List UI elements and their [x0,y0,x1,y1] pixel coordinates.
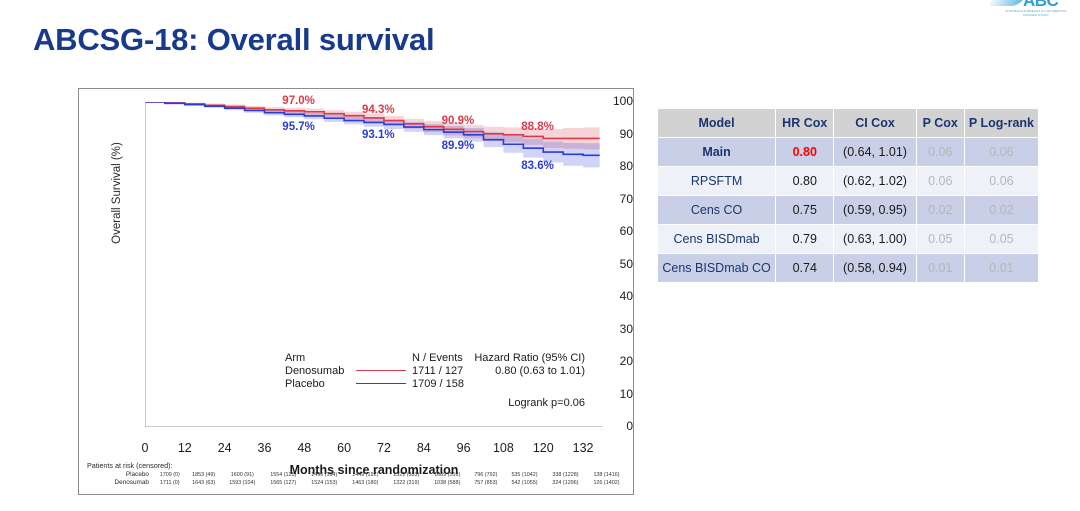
risk-cell: 1089 (516) [427,471,468,479]
curve-annotation: 83.6% [521,160,554,172]
survival-chart-panel: Overall Survival (%) 0102030405060708090… [78,88,634,495]
cell-hr-cox: 0.74 [776,254,833,282]
risk-cell: 1643 (63) [186,479,222,487]
risk-cell: 1038 (588) [427,479,468,487]
legend-arm-label: Denosumab [285,365,355,378]
risk-cell: 126 (1402) [586,479,627,487]
logo-mark-text: ABC [1023,0,1058,9]
table-row: Cens BISDmab0.79(0.63, 1.00)0.050.05 [658,225,1038,253]
legend-n-events: 1709 / 158 [408,378,474,391]
risk-cell: 1524 (153) [304,479,345,487]
cell-model: Cens BISDmab [658,225,775,253]
legend-logrank: Logrank p=0.06 [285,397,585,409]
risk-cell: 1321 (303) [386,471,427,479]
risk-cell: 324 (1296) [545,479,586,487]
risk-cell: 1463 (180) [345,479,386,487]
x-tick-label: 48 [284,441,324,455]
cell-p-logrank: 0.06 [965,138,1038,166]
risk-table-row: Placebo1709 (0)1853 (49)1600 (91)1554 (1… [87,471,627,479]
table-row: Main0.80(0.64, 1.01)0.060.06 [658,138,1038,166]
table-row: Cens CO0.75(0.59, 0.95)0.020.02 [658,196,1038,224]
cell-hr-cox: 0.80 [776,167,833,195]
x-tick-label: 96 [444,441,484,455]
risk-cell: 338 (1228) [545,471,586,479]
risk-cell: 1711 (0) [154,479,186,487]
page-title: ABCSG-18: Overall survival [33,22,434,58]
cell-hr-cox: 0.75 [776,196,833,224]
legend-row: Placebo1709 / 158 [285,378,585,391]
cell-model: Cens BISDmab CO [658,254,775,282]
risk-cell: 1709 (0) [154,471,186,479]
patients-at-risk-table: Placebo1709 (0)1853 (49)1600 (91)1554 (1… [87,471,627,487]
cell-p-logrank: 0.02 [965,196,1038,224]
risk-cell: 1554 (125) [263,471,304,479]
curve-annotation: 89.9% [442,140,475,152]
risk-cell: 535 (1042) [504,471,545,479]
y-axis-title: Overall Survival (%) [111,113,123,273]
x-tick-label: 108 [483,441,523,455]
abcsg-logo: ABC AUSTRALIAN BREAST & COLORECTAL CANCE… [985,0,1077,26]
risk-cell: 1593 (104) [222,479,263,487]
risk-row-label: Denosumab [87,479,154,487]
legend-header-row: ArmN / EventsHazard Ratio (95% CI) [285,352,585,365]
cell-hr-cox: 0.80 [776,138,833,166]
legend-arm-label: Placebo [285,378,355,391]
risk-cell: 1449 (192) [345,471,386,479]
curve-annotation: 93.1% [362,129,395,141]
table-column-header: P Cox [917,109,964,137]
patients-at-risk-title: Patients at risk (censored): [87,461,627,470]
logo-subtitle-line2: CANCER STUDY [999,13,1073,17]
cell-model: RPSFTM [658,167,775,195]
curve-annotation: 90.9% [442,115,475,127]
cell-model: Cens CO [658,196,775,224]
cell-p-cox: 0.01 [917,254,964,282]
table-row: Cens BISDmab CO0.74(0.58, 0.94)0.010.01 [658,254,1038,282]
legend-hazard-ratio: 0.80 (0.63 to 1.01) [474,365,585,378]
cell-p-logrank: 0.06 [965,167,1038,195]
risk-cell: 542 (1055) [504,479,545,487]
x-tick-label: 24 [205,441,245,455]
x-tick-label: 120 [523,441,563,455]
risk-cell: 1565 (127) [263,479,304,487]
curve-annotation: 95.7% [282,121,315,133]
x-tick-label: 84 [404,441,444,455]
cell-ci-cox: (0.64, 1.01) [834,138,915,166]
cell-ci-cox: (0.62, 1.02) [834,167,915,195]
x-tick-label: 36 [244,441,284,455]
legend-n-events: 1711 / 127 [408,365,474,378]
cell-ci-cox: (0.58, 0.94) [834,254,915,282]
legend-row: Denosumab1711 / 1270.80 (0.63 to 1.01) [285,365,585,378]
legend-header-arm: Arm [285,352,355,365]
x-tick-label: 72 [364,441,404,455]
cell-ci-cox: (0.59, 0.95) [834,196,915,224]
cell-p-logrank: 0.05 [965,225,1038,253]
legend-header-hr: Hazard Ratio (95% CI) [474,352,585,365]
legend-table: ArmN / EventsHazard Ratio (95% CI)Denosu… [285,352,585,391]
cell-p-logrank: 0.01 [965,254,1038,282]
risk-cell: 1322 (319) [386,479,427,487]
x-tick-label: 132 [563,441,603,455]
cell-model: Main [658,138,775,166]
risk-cell: 1600 (91) [222,471,263,479]
table-row: RPSFTM0.80(0.62, 1.02)0.060.06 [658,167,1038,195]
logo-swoosh-icon [990,0,1027,6]
table-column-header: CI Cox [834,109,915,137]
risk-cell: 1496 (164) [304,471,345,479]
x-tick-label: 12 [165,441,205,455]
cell-p-cox: 0.02 [917,196,964,224]
curve-annotation: 97.0% [282,95,315,107]
legend-header-n: N / Events [408,352,474,365]
table-column-header: Model [658,109,775,137]
cell-p-cox: 0.06 [917,138,964,166]
model-statistics-table: ModelHR CoxCI CoxP CoxP Log-rank Main0.8… [657,108,1039,283]
cell-p-cox: 0.05 [917,225,964,253]
legend-line-red [356,370,406,371]
x-tick-label: 0 [125,441,165,455]
legend-hazard-ratio [474,378,585,391]
cell-hr-cox: 0.79 [776,225,833,253]
x-tick-label: 60 [324,441,364,455]
risk-row-label: Placebo [87,471,154,479]
risk-cell: 757 (853) [468,479,504,487]
chart-legend: ArmN / EventsHazard Ratio (95% CI)Denosu… [285,352,585,409]
table-header-row: ModelHR CoxCI CoxP CoxP Log-rank [658,109,1038,137]
logo-subtitle: AUSTRALIAN BREAST & COLORECTAL CANCER ST… [999,9,1073,17]
table-column-header: HR Cox [776,109,833,137]
patients-at-risk-block: Patients at risk (censored): Placebo1709… [87,461,627,487]
cell-p-cox: 0.06 [917,167,964,195]
curve-annotation: 88.8% [521,121,554,133]
risk-table-row: Denosumab1711 (0)1643 (63)1593 (104)1565… [87,479,627,487]
risk-cell: 138 (1416) [586,471,627,479]
table-column-header: P Log-rank [965,109,1038,137]
risk-cell: 1853 (49) [186,471,222,479]
risk-cell: 796 (792) [468,471,504,479]
legend-line-blue [356,383,406,384]
curve-annotation: 94.3% [362,104,395,116]
cell-ci-cox: (0.63, 1.00) [834,225,915,253]
